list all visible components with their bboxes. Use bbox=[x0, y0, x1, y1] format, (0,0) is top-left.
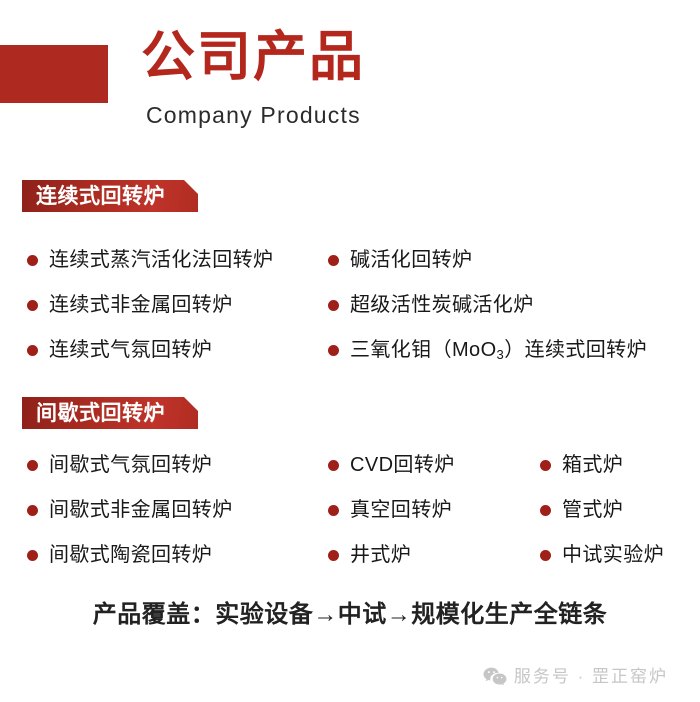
section-banner-continuous-label: 连续式回转炉 bbox=[36, 183, 165, 210]
list-item-label: 超级活性炭碱活化炉 bbox=[350, 291, 534, 319]
list-item-label: 间歇式陶瓷回转炉 bbox=[49, 541, 212, 569]
section-banner-batch: 间歇式回转炉 bbox=[22, 397, 198, 429]
list-item-label: 真空回转炉 bbox=[350, 496, 452, 524]
moo3-suffix: ）连续式回转炉 bbox=[504, 339, 647, 361]
bullet-icon bbox=[27, 300, 38, 311]
list-item-label: 间歇式气氛回转炉 bbox=[49, 451, 212, 479]
list-item-label-moo3: 三氧化钼（MoO3）连续式回转炉 bbox=[350, 336, 647, 366]
wechat-watermark-label: 服务号 · 罡正窑炉 bbox=[514, 665, 668, 689]
list-item-label: 间歇式非金属回转炉 bbox=[49, 496, 233, 524]
list-item-label: 井式炉 bbox=[350, 541, 411, 569]
bullet-icon bbox=[27, 550, 38, 561]
list-item-label: 中试实验炉 bbox=[562, 541, 664, 569]
wechat-icon bbox=[483, 667, 507, 687]
page-title: 公司产品 bbox=[141, 26, 365, 88]
bullet-icon bbox=[328, 255, 339, 266]
bullet-icon bbox=[27, 505, 38, 516]
bullet-icon bbox=[27, 460, 38, 471]
bullet-icon bbox=[540, 550, 551, 561]
bullet-icon bbox=[328, 300, 339, 311]
moo3-prefix: 三氧化钼（MoO bbox=[350, 339, 497, 361]
page-header: 公司产品 Company Products bbox=[0, 0, 700, 150]
list-item-label: 箱式炉 bbox=[562, 451, 623, 479]
section-banner-batch-label: 间歇式回转炉 bbox=[36, 400, 165, 427]
moo3-subscript: 3 bbox=[497, 347, 505, 362]
list-item-label: CVD回转炉 bbox=[350, 451, 455, 479]
page-subtitle: Company Products bbox=[146, 100, 361, 130]
list-item-label: 碱活化回转炉 bbox=[350, 246, 472, 274]
list-item-label: 管式炉 bbox=[562, 496, 623, 524]
coverage-tagline: 产品覆盖：实验设备→中试→规模化生产全链条 bbox=[0, 598, 700, 632]
section-banner-continuous: 连续式回转炉 bbox=[22, 180, 198, 212]
header-red-block bbox=[0, 45, 108, 103]
list-item-label: 连续式非金属回转炉 bbox=[49, 291, 233, 319]
list-item-label: 连续式气氛回转炉 bbox=[49, 336, 212, 364]
list-item-label: 连续式蒸汽活化法回转炉 bbox=[49, 246, 273, 274]
wechat-watermark: 服务号 · 罡正窑炉 bbox=[483, 664, 668, 690]
bullet-icon bbox=[328, 505, 339, 516]
bullet-icon bbox=[328, 460, 339, 471]
bullet-icon bbox=[27, 345, 38, 356]
bullet-icon bbox=[328, 550, 339, 561]
bullet-icon bbox=[328, 345, 339, 356]
bullet-icon bbox=[27, 255, 38, 266]
bullet-icon bbox=[540, 505, 551, 516]
bullet-icon bbox=[540, 460, 551, 471]
